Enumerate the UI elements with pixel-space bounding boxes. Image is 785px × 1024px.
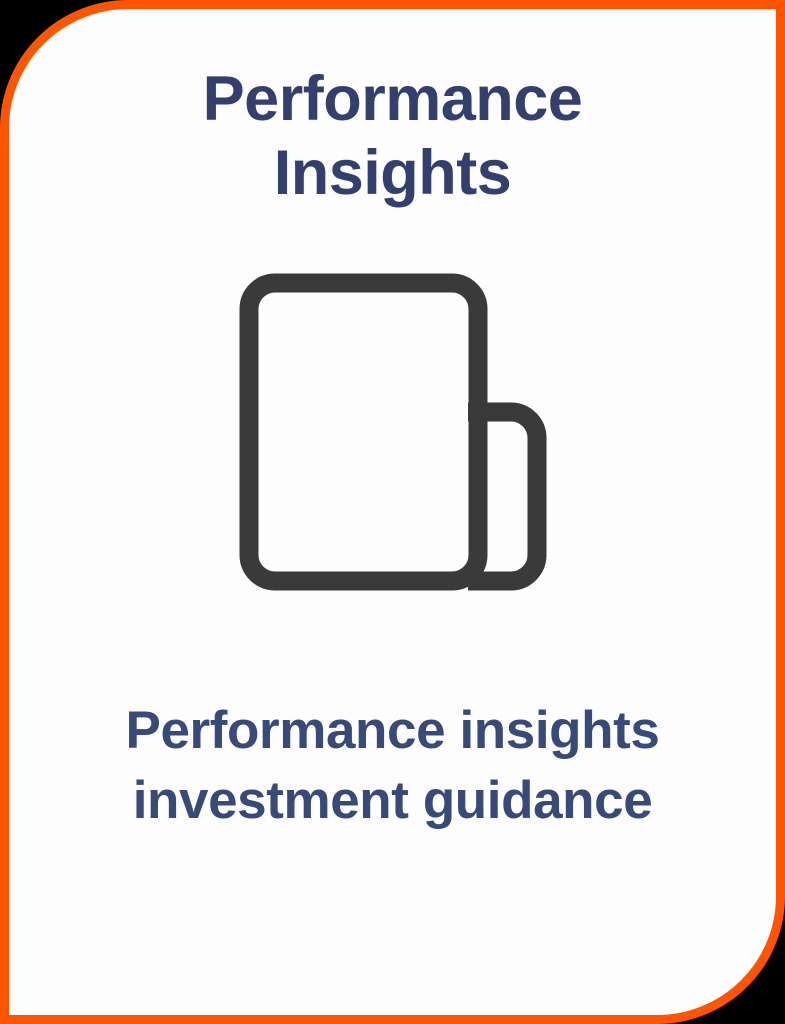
devices-tablet-phone-icon: [238, 272, 548, 592]
performance-insights-card[interactable]: Performance Insights Performance insight…: [0, 0, 785, 1024]
devices-tablet-phone-icon-glyph: [238, 272, 548, 592]
tablet-outline-shape: [249, 283, 478, 581]
page-title: Performance Insights: [9, 63, 776, 210]
card-caption: Performance insights investment guidance: [9, 696, 776, 836]
